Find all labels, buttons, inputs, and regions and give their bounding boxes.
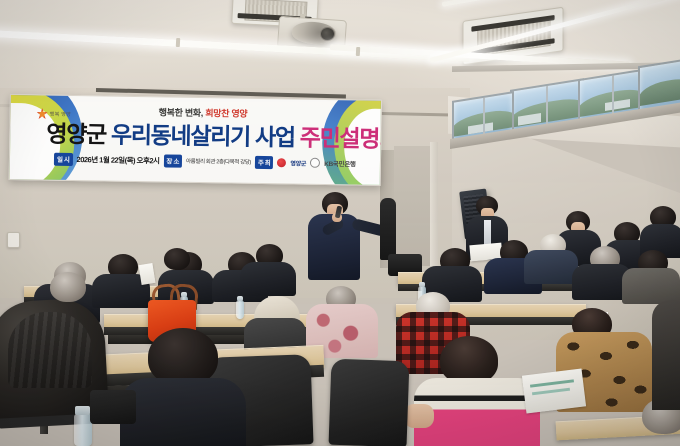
- light-switch[interactable]: [7, 232, 20, 248]
- host-logo-icon: [277, 158, 286, 167]
- person-in-doorway: [380, 198, 396, 260]
- doorway[interactable]: [394, 146, 434, 266]
- black-bag: [90, 390, 136, 424]
- audience-head: [440, 336, 498, 384]
- handout-paper: [139, 263, 156, 285]
- audience-head: [164, 248, 190, 270]
- bottle-cap: [419, 282, 425, 287]
- banner-place-tag: 장 소: [163, 154, 182, 167]
- banner-info-row: 일 시 2026년 1월 22일(목) 오후2시 장 소 아름빌리 회관 2층(…: [54, 152, 364, 171]
- banner-title: 영양군 우리동네살리기 사업 주민설명회: [46, 118, 376, 151]
- banner-title-part-1: 우리동네살리기: [111, 116, 251, 152]
- staff-shirt: [484, 220, 491, 246]
- banner-sponsor-name: KB국민은행: [324, 158, 356, 168]
- banner-host-name: 영양군: [290, 158, 306, 167]
- banner-host-tag: 주 최: [255, 155, 274, 168]
- audience-torso: [120, 378, 246, 446]
- chair-mesh: [8, 312, 92, 388]
- projector-lens: [320, 27, 335, 41]
- led-joint: [356, 47, 360, 56]
- audience-torso: [240, 262, 296, 296]
- audience-hand: [404, 404, 434, 428]
- banner-date-tag: 일 시: [54, 152, 73, 165]
- led-joint: [176, 38, 180, 47]
- banner-title-part-0: 영양군: [46, 115, 106, 150]
- bottle-cap: [237, 296, 243, 301]
- meeting-room-photo: 행복 영양 행복한 변화, 희망찬 영양 영양군 우리동네살리기 사업 주민설명…: [0, 0, 680, 446]
- sponsor-logo-icon: [310, 158, 320, 168]
- audience-torso: [652, 300, 680, 410]
- audience-head: [50, 272, 86, 302]
- chair-back[interactable]: [329, 359, 410, 446]
- event-banner: 행복 영양 행복한 변화, 희망찬 영양 영양군 우리동네살리기 사업 주민설명…: [9, 94, 382, 186]
- doorway-jamb: [430, 142, 438, 266]
- bottle-cap: [75, 406, 90, 415]
- banner-title-part-3: 주민설명회: [299, 119, 381, 155]
- water-bottle: [236, 300, 244, 319]
- banner-date-value: 2026년 1월 22일(목) 오후2시: [76, 154, 159, 166]
- audience-torso: [622, 268, 680, 304]
- audience-torso: [524, 250, 578, 284]
- banner-place-value: 아름빌리 회관 2층(다목적 강당): [186, 157, 251, 166]
- banner-title-part-2: 사업: [255, 118, 295, 153]
